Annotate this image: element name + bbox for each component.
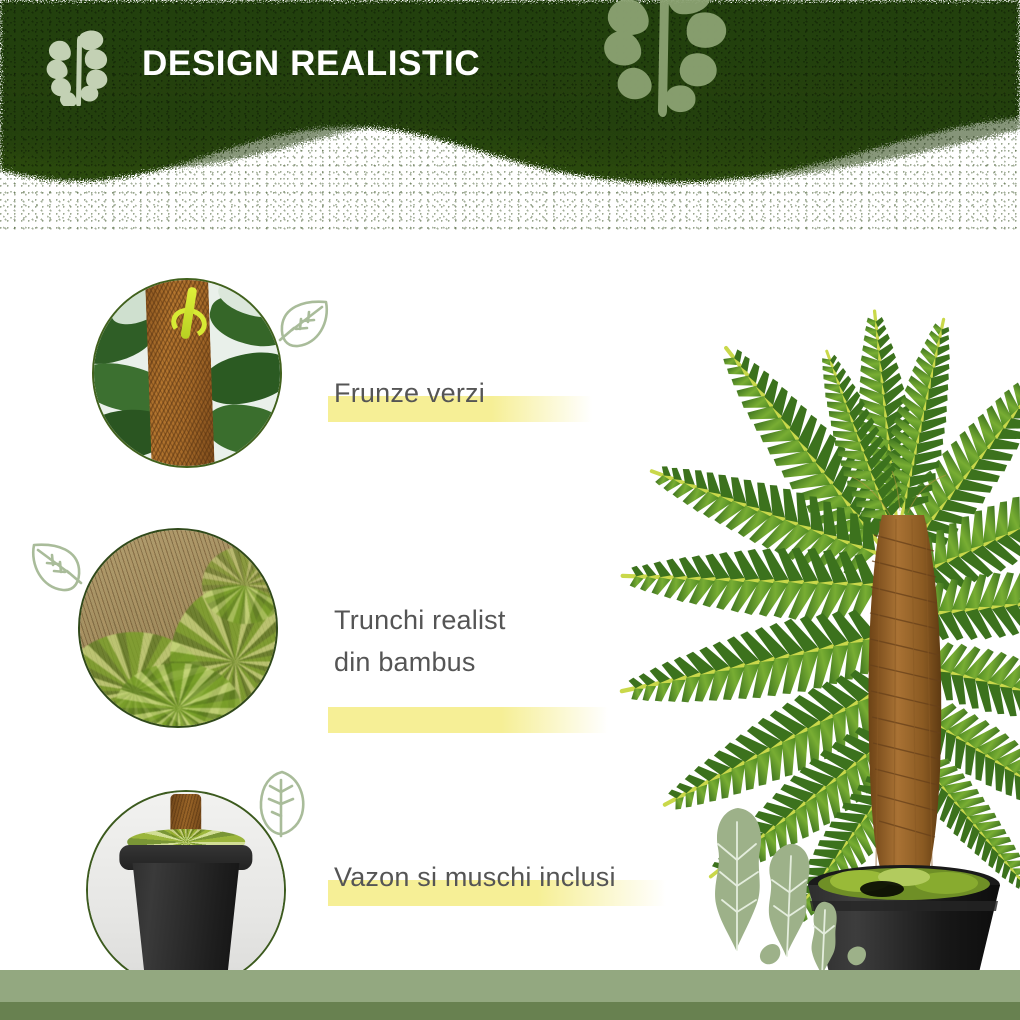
leaf-outline-icon — [272, 296, 336, 352]
infographic-canvas: DESIGN REALISTIC — [0, 0, 1020, 1020]
feature-label-1-line: Frunze verzi — [334, 378, 485, 409]
feature-thumbnail-2 — [78, 528, 278, 728]
pot-body — [125, 863, 247, 977]
feature-label-2-line-2: din bambus — [334, 647, 506, 678]
feature-label-2: Trunchi realist din bambus — [334, 605, 506, 678]
leaf-outline-icon — [252, 768, 312, 840]
page-title: DESIGN REALISTIC — [142, 44, 480, 84]
highlight-bar — [328, 707, 608, 733]
footer-band-dark — [0, 1002, 1020, 1020]
footer-band-light — [0, 970, 1020, 1002]
feature-label-2-line-1: Trunchi realist — [334, 605, 506, 636]
feature-label-3-line: Vazon si muschi inclusi — [334, 862, 616, 893]
coir-pole — [144, 278, 214, 468]
header-green-shape — [0, 0, 1020, 230]
header-banner: DESIGN REALISTIC — [0, 0, 1020, 230]
feature-label-1-text: Frunze verzi — [334, 378, 485, 408]
feature-label-1: Frunze verzi — [334, 378, 485, 409]
feature-thumbnail-1 — [92, 278, 282, 468]
leaf-silhouette-cluster — [690, 800, 890, 980]
photo-coir-trunk — [94, 280, 280, 466]
monstera-leaf-accent-icon — [600, 0, 750, 124]
monstera-leaf-icon — [45, 28, 117, 106]
feature-label-2-text-1: Trunchi realist — [334, 605, 506, 635]
leaf-outline-icon — [24, 538, 90, 596]
feature-label-3: Vazon si muschi inclusi — [334, 862, 616, 893]
feature-label-2-text-2: din bambus — [334, 647, 476, 677]
photo-bamboo-fiber-moss — [80, 530, 276, 726]
feature-label-3-text: Vazon si muschi inclusi — [334, 862, 616, 892]
